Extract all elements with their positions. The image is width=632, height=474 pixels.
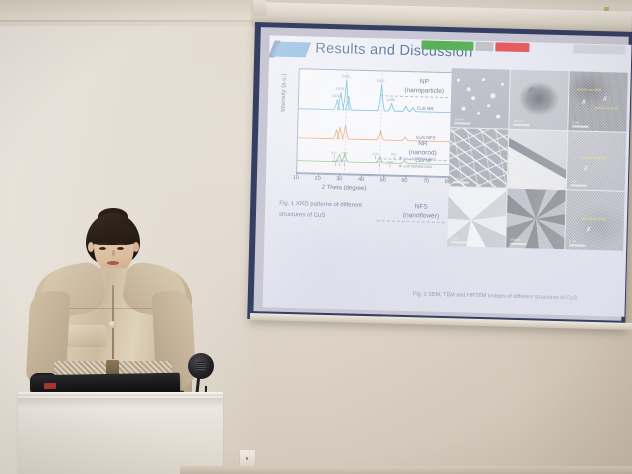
structure-label-nfs: NFS (nanoflower)	[396, 202, 446, 221]
micrograph-grid: 200 nm 200 nm d=3.04 nm (103) ✗ ✗ d=3.22…	[447, 68, 628, 251]
laptop-logo	[44, 383, 56, 389]
scalebar-label: 1 µm	[451, 236, 458, 240]
ear-left	[88, 242, 94, 252]
svg-text:(200): (200)	[341, 151, 347, 155]
roller-mount-screw	[604, 7, 609, 11]
lattice-arrow-icon: ✗	[586, 227, 592, 234]
chart-x-tick-label: 20	[314, 176, 320, 182]
lattice-spacing-tag: d=3.28 nm (101)	[582, 217, 606, 222]
figure-1-caption-line-2: structures of CuS	[279, 210, 397, 224]
wall-outlet-socket	[246, 457, 248, 460]
scalebar-line	[569, 244, 585, 246]
toolbar-chip-green[interactable]	[421, 40, 473, 50]
lattice-spacing-tag: d=3.05 nm (103)	[582, 155, 606, 160]
scalebar-line	[451, 241, 467, 243]
structure-label-nr: NR (nanorod)	[400, 139, 446, 158]
micrograph-nfs-hrtem: d=3.28 nm (101) ✗ 5 nm	[565, 191, 625, 251]
svg-text:(108): (108)	[387, 98, 395, 102]
nose	[112, 250, 115, 256]
scalebar-line	[512, 183, 528, 185]
scalebar-label: 200 nm	[454, 117, 464, 121]
scalebar-line	[572, 125, 588, 127]
figure-2-caption: Fig. 2 SEM, TEM and HRTEM images of diff…	[413, 291, 618, 302]
lattice-arrow-icon: ✗	[581, 100, 587, 107]
svg-text:(110): (110)	[376, 160, 382, 164]
scalebar-line	[454, 122, 470, 124]
lattice-arrow-icon: ✗	[602, 96, 608, 103]
eye-right	[117, 247, 124, 250]
jacket-pocket	[62, 325, 106, 347]
eyebrow-right	[116, 243, 125, 245]
svg-text:(102): (102)	[336, 87, 344, 91]
microphone-grille	[196, 362, 206, 370]
micrograph-nfs-tem: 200 nm	[506, 189, 566, 249]
scalebar-label: 200 nm	[512, 178, 522, 182]
svg-text:(101): (101)	[332, 94, 340, 98]
micrograph-np-sem: 200 nm	[450, 68, 510, 128]
toolbar-chip-neutral[interactable]	[475, 42, 493, 51]
chart-x-tick-label: 40	[358, 177, 364, 183]
conference-room-photo: Results and Discussion Intensity (a.u.) …	[0, 0, 632, 474]
svg-text:CuS NR: CuS NR	[417, 106, 435, 111]
micrograph-np-tem: 200 nm	[509, 70, 569, 130]
scalebar-label: 1 µm	[453, 177, 460, 181]
scalebar-line	[510, 243, 526, 245]
svg-text:(111): (111)	[331, 150, 337, 154]
scalebar-label: 200 nm	[513, 118, 523, 122]
title-accent-parallelogram	[271, 42, 311, 58]
chart-y-axis-label: Intensity (a.u.)	[281, 74, 288, 112]
scalebar-label: 5 nm	[569, 239, 576, 243]
presentation-slide: Results and Discussion Intensity (a.u.) …	[263, 35, 632, 316]
micrograph-nr-sem: 1 µm	[449, 128, 509, 188]
lattice-arrow-icon: ✗	[583, 165, 589, 172]
structure-full-nr: (nanorod)	[400, 148, 446, 158]
micrograph-nr-hrtem: d=3.05 nm (103) ✗ 5 nm	[567, 131, 627, 191]
projection-screen-surface: Results and Discussion Intensity (a.u.) …	[253, 27, 628, 321]
micrograph-np-hrtem: d=3.04 nm (103) ✗ ✗ d=3.22 nm (102) 5 nm	[568, 71, 628, 131]
scalebar-line	[571, 185, 587, 187]
scalebar-label: 5 nm	[571, 180, 578, 184]
zipper-pull	[109, 321, 116, 328]
slide-corner-tag	[573, 44, 625, 54]
svg-text:(103): (103)	[341, 159, 347, 163]
lattice-spacing-tag: d=3.22 nm (102)	[595, 106, 619, 111]
roller-end-cap	[253, 0, 267, 16]
ear-right	[133, 242, 139, 252]
lattice-spacing-tag: d=3.04 nm (103)	[577, 87, 601, 92]
toolbar-chip-red[interactable]	[495, 42, 529, 52]
projection-screen: Results and Discussion Intensity (a.u.) …	[247, 22, 632, 329]
podium-shadow	[18, 398, 223, 408]
svg-text:(103): (103)	[342, 74, 350, 78]
floor-edge	[180, 466, 632, 474]
micrograph-nfs-sem: 1 µm	[447, 187, 507, 247]
svg-text:(311): (311)	[391, 152, 397, 156]
chart-x-tick-label: 30	[336, 176, 342, 182]
scalebar-line	[453, 182, 469, 184]
svg-text:CuS PDF#06-0464: CuS PDF#06-0464	[403, 164, 432, 169]
chart-x-tick-label: 60	[401, 178, 407, 184]
eye-left	[99, 247, 106, 250]
structure-label-np: NP (nanoparticle)	[401, 77, 447, 96]
structure-full-nfs: (nanoflower)	[396, 211, 446, 221]
scalebar-label: 200 nm	[510, 238, 520, 242]
mouth	[107, 261, 119, 265]
scalebar-line	[513, 123, 529, 125]
structure-full-np: (nanoparticle)	[401, 86, 447, 96]
chart-x-axis-label: 2 Theta (degree)	[322, 185, 367, 192]
chart-x-tick-label: 10	[293, 175, 299, 181]
scalebar-label: 5 nm	[572, 120, 579, 124]
chart-x-tick-label: 50	[380, 177, 386, 183]
chart-x-tick-label: 70	[423, 178, 429, 184]
svg-text:(108): (108)	[387, 160, 393, 164]
micrograph-nr-tem: 200 nm	[508, 129, 568, 189]
svg-text:(110): (110)	[377, 79, 385, 83]
svg-text:(220): (220)	[372, 152, 378, 156]
eyebrow-left	[98, 243, 107, 245]
